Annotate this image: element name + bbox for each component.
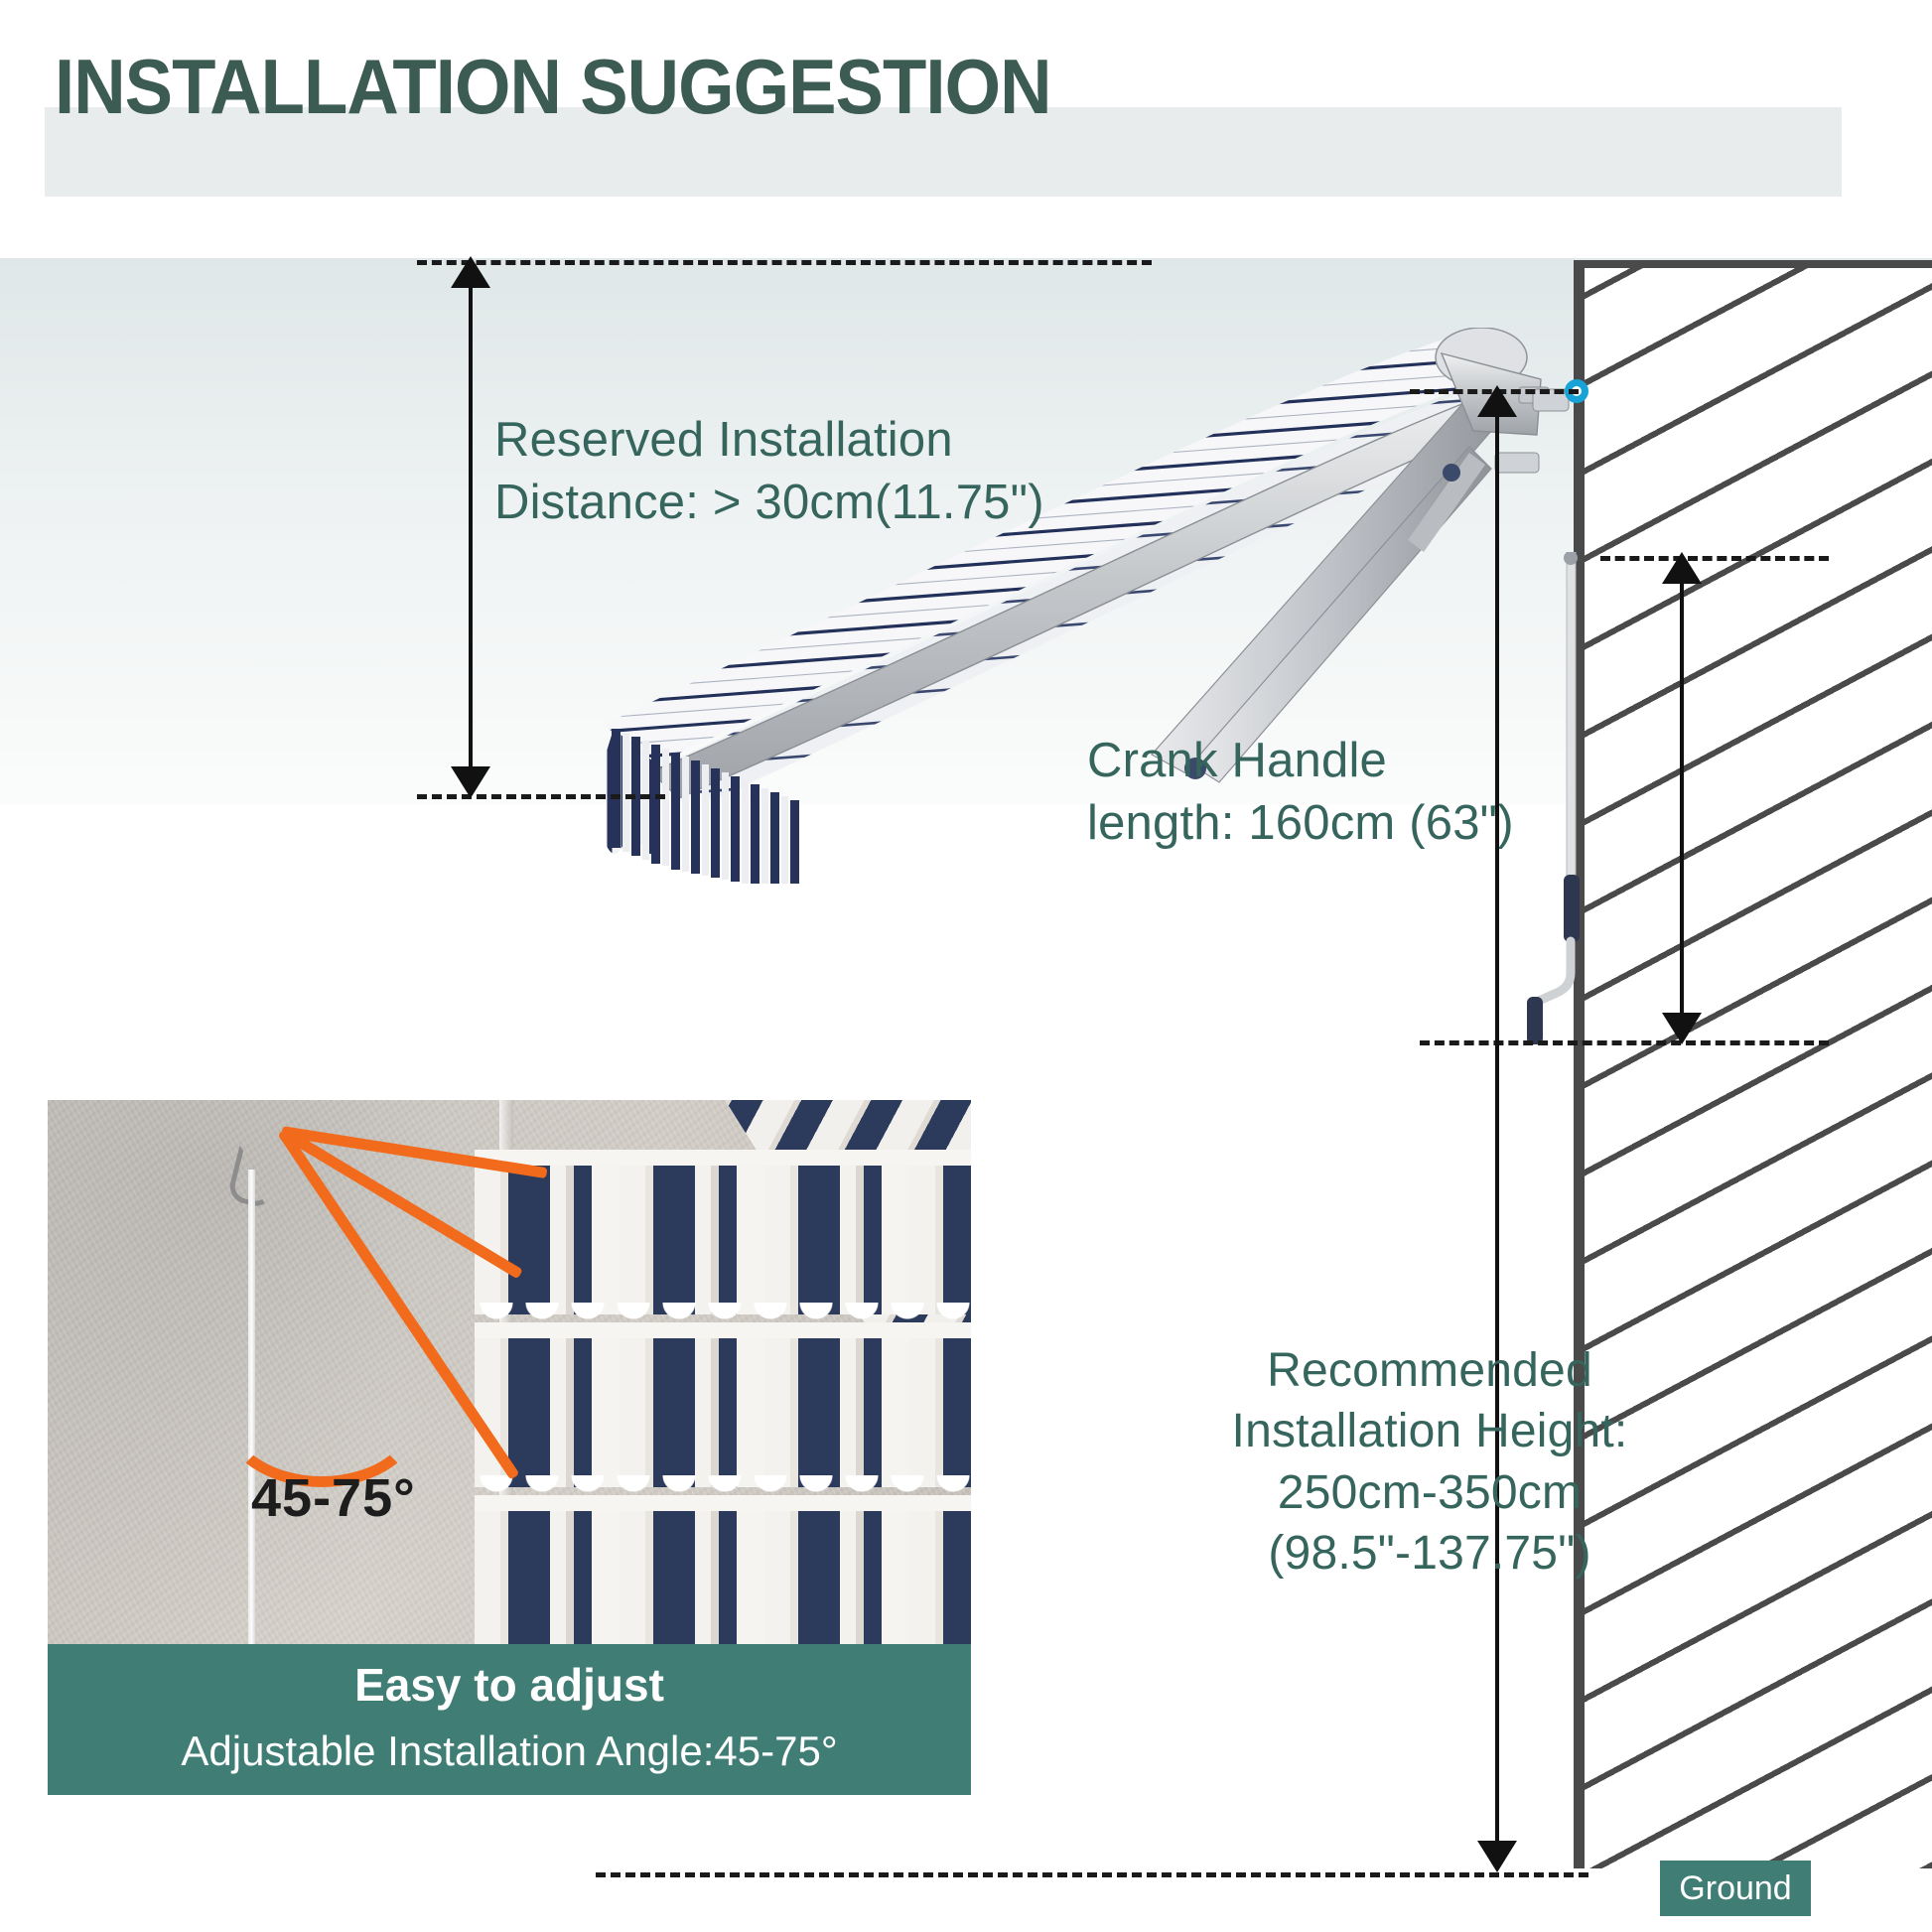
photo-awning-tier-2 [475, 1338, 971, 1487]
wall-top-line [1574, 260, 1932, 268]
recommended-height-line4: (98.5"-137.75") [1172, 1523, 1688, 1584]
crank-handle-line1: Crank Handle [1087, 730, 1514, 792]
photo-caption-title: Easy to adjust [48, 1658, 971, 1712]
crank-length-arrow-head-top [1662, 552, 1702, 584]
reserved-distance-line1: Reserved Installation [494, 409, 1044, 472]
page-title: INSTALLATION SUGGESTION [55, 42, 1051, 132]
crank-handle-line2: length: 160cm (63") [1087, 792, 1514, 855]
photo-angle-arc-icon [221, 1346, 422, 1487]
install-height-arrow-head-bottom [1477, 1841, 1517, 1872]
photo-angle-label: 45-75° [251, 1467, 416, 1529]
photo-caption-subtitle: Adjustable Installation Angle:45-75° [48, 1727, 971, 1775]
install-height-arrow-head-top [1477, 385, 1517, 417]
recommended-height-line2: Installation Height: [1172, 1401, 1688, 1461]
crank-length-arrow-head-bottom [1662, 1013, 1702, 1044]
ground-label: Ground [1660, 1861, 1811, 1916]
photo-awning-rail-1 [475, 1150, 971, 1166]
reserved-distance-line2: Distance: > 30cm(11.75") [494, 472, 1044, 534]
photo-caption-box: Easy to adjust Adjustable Installation A… [48, 1644, 971, 1795]
reserved-distance-label: Reserved Installation Distance: > 30cm(1… [494, 409, 1044, 533]
crank-length-arrow-shaft [1680, 574, 1684, 1027]
recommended-height-line1: Recommended [1172, 1340, 1688, 1401]
photo-awning-rail-3 [475, 1495, 971, 1511]
crank-handle [1509, 552, 1688, 1048]
photo-awning-tier-1 [475, 1166, 971, 1314]
reserved-distance-arrow-shaft [469, 278, 473, 780]
crank-handle-label: Crank Handle length: 160cm (63") [1087, 730, 1514, 854]
reserved-distance-arrow-head-top [451, 256, 490, 288]
install-height-bottom-dashline [596, 1872, 1588, 1877]
install-height-arrow-shaft [1495, 407, 1499, 1855]
reserved-distance-top-dashline [417, 260, 1152, 265]
crank-top-dashline [1600, 556, 1829, 561]
recommended-height-line3: 250cm-350cm [1172, 1462, 1688, 1523]
reserved-distance-arrow-head-bottom [451, 766, 490, 798]
crank-bottom-dashline [1420, 1040, 1829, 1045]
recommended-height-label: Recommended Installation Height: 250cm-3… [1172, 1340, 1688, 1585]
photo-awning-rail-2 [475, 1322, 971, 1338]
photo-awning-tier-3 [475, 1511, 971, 1660]
